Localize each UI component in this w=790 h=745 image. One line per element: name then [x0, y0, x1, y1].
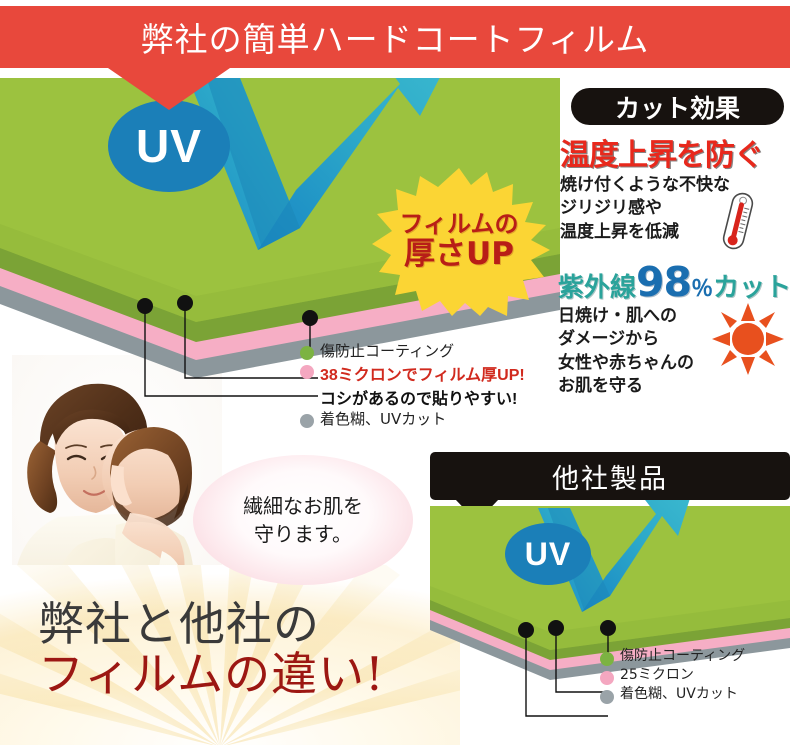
- uv-headline-number: 98: [636, 258, 691, 306]
- uv-headline-percent: ％: [691, 277, 713, 302]
- bubble-line2: 守ります。: [254, 520, 352, 548]
- competitor-legend-label-adhesive: 着色糊、UVカット: [620, 686, 738, 703]
- legend-item-thickness: 38ミクロンでフィルム厚UP! コシがあるので貼りやすい!: [300, 361, 560, 409]
- competitor-banner-label: 他社製品: [552, 457, 668, 496]
- uv-cut-headline: 紫外線98％カット: [558, 258, 790, 298]
- infographic-page: 弊社と他社の フィルムの違い! 繊細なお肌を 守ります。: [0, 0, 790, 745]
- thickness-burst: フィルムの 厚さUP: [360, 168, 558, 316]
- uv-body-line4: お肌を守る: [558, 375, 738, 398]
- competitor-legend-dot-green-icon: [600, 652, 614, 666]
- cut-effect-label: カット効果: [615, 89, 740, 125]
- uv-body-line1: 日焼け・肌への: [558, 305, 738, 328]
- legend-label-thickness: 38ミクロンでフィルム厚UP!: [320, 361, 525, 385]
- heat-headline: 温度上昇を防ぐ: [560, 130, 790, 174]
- competitor-legend-label-coating: 傷防止コーティング: [620, 648, 745, 665]
- competitor-legend: 傷防止コーティング 25ミクロン 着色糊、UVカット: [600, 648, 790, 705]
- uv-label-main: UV: [136, 119, 202, 173]
- uv-label-competitor: UV: [525, 536, 571, 573]
- page-title: 弊社の簡単ハードコートフィルム: [141, 13, 650, 61]
- competitor-legend-item-coating: 傷防止コーティング: [600, 648, 790, 666]
- main-legend: 傷防止コーティング 38ミクロンでフィルム厚UP! コシがあるので貼りやすい! …: [300, 342, 560, 430]
- uv-badge-main: UV: [108, 100, 230, 192]
- skin-protection-bubble: 繊細なお肌を 守ります。: [193, 455, 413, 585]
- uv-badge-competitor: UV: [505, 523, 591, 585]
- cut-effect-pill: カット効果: [571, 88, 784, 125]
- bottom-headline: 弊社と他社の フィルムの違い!: [38, 600, 438, 699]
- burst-line1: フィルムの: [399, 212, 518, 238]
- uv-body-line2: ダメージから: [558, 328, 738, 351]
- legend-item-adhesive: 着色糊、UVカット: [300, 410, 560, 428]
- thermometer-icon: [717, 190, 759, 252]
- burst-text: フィルムの 厚さUP: [360, 168, 558, 316]
- uv-headline-part1: 紫外線: [558, 273, 636, 303]
- competitor-legend-dot-gray-icon: [600, 690, 614, 704]
- bottom-headline-line1: 弊社と他社の: [38, 597, 320, 651]
- header-banner: 弊社の簡単ハードコートフィルム: [0, 6, 790, 68]
- legend-dot-green-icon: [300, 346, 314, 360]
- legend-item-coating: 傷防止コーティング: [300, 342, 560, 360]
- uv-body-text: 日焼け・肌への ダメージから 女性や赤ちゃんの お肌を守る: [558, 305, 738, 399]
- legend-label-coating: 傷防止コーティング: [320, 342, 454, 360]
- legend-dot-gray-icon: [300, 414, 314, 428]
- sun-icon: [712, 303, 784, 375]
- bubble-line1: 繊細なお肌を: [243, 492, 363, 520]
- bottom-headline-line2: フィルムの違い!: [38, 650, 438, 698]
- competitor-legend-item-thickness: 25ミクロン: [600, 667, 790, 685]
- burst-line2: 厚さUP: [404, 238, 514, 271]
- legend-label-stiffness: コシがあるので貼りやすい!: [320, 385, 525, 409]
- uv-headline-part2: カット: [713, 273, 790, 303]
- uv-body-line3: 女性や赤ちゃんの: [558, 352, 738, 375]
- competitor-legend-label-thickness: 25ミクロン: [620, 667, 694, 684]
- legend-label-adhesive: 着色糊、UVカット: [320, 410, 446, 428]
- competitor-legend-item-adhesive: 着色糊、UVカット: [600, 686, 790, 704]
- header-banner-tail: [108, 68, 230, 110]
- competitor-legend-dot-pink-icon: [600, 671, 614, 685]
- competitor-banner: 他社製品: [430, 452, 790, 500]
- legend-dot-pink-icon: [300, 365, 314, 379]
